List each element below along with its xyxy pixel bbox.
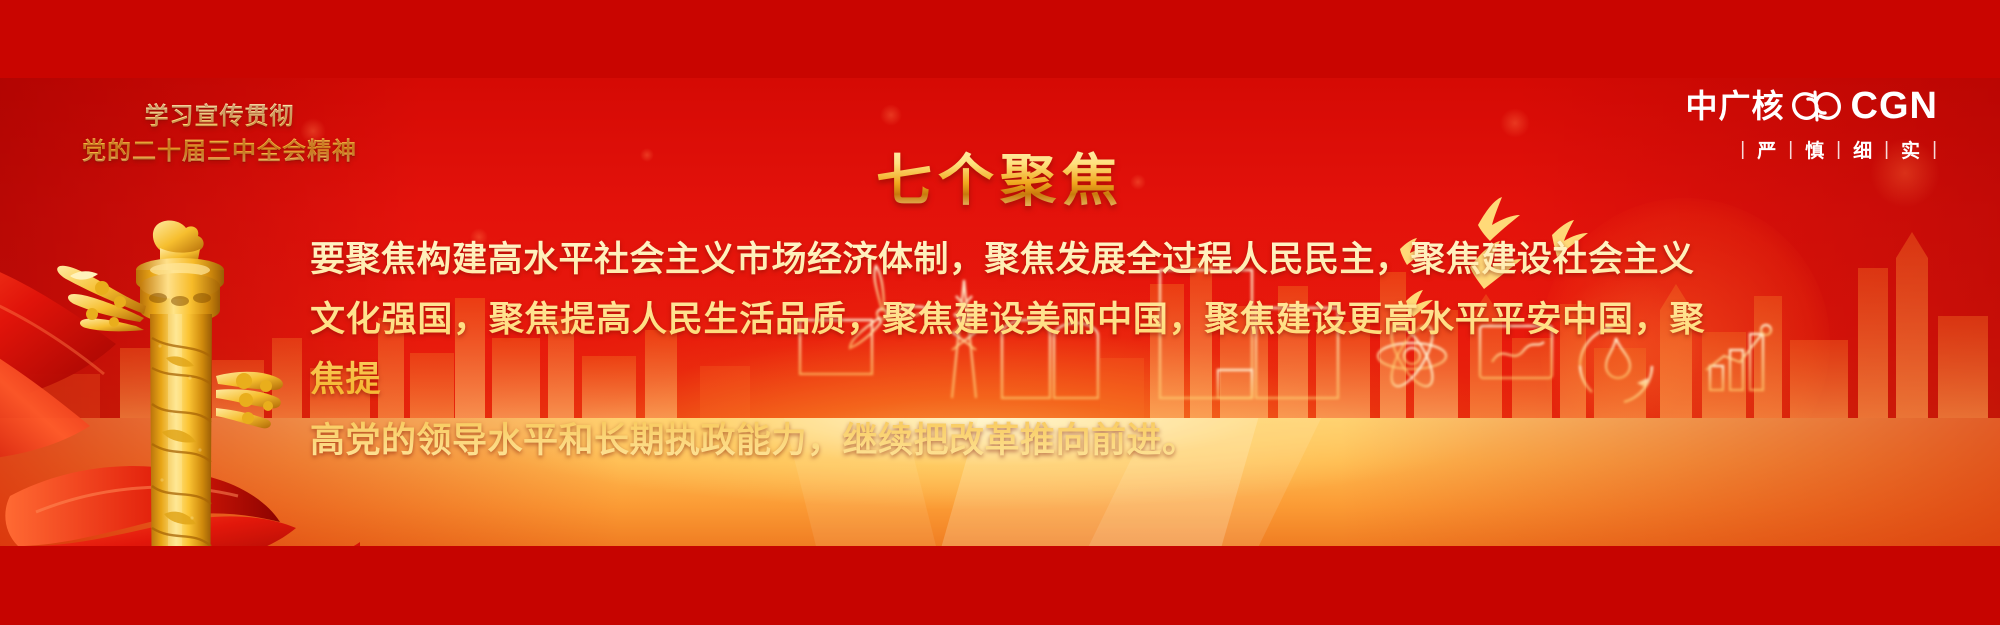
motto-separator: | [1836, 139, 1842, 161]
huabiao-column [40, 218, 300, 546]
motto-char-3: 细 [1842, 136, 1884, 163]
bokeh-dot [880, 104, 902, 126]
top-band [0, 0, 2000, 78]
logo-chinese-name: 中广核 [1686, 90, 1785, 122]
motto-separator: | [1740, 139, 1746, 161]
motto-char-1: 严 [1746, 136, 1788, 163]
bokeh-dot [1500, 108, 1530, 138]
slogan-line-1: 学习宣传贯彻 [82, 100, 357, 135]
body-copy: 要聚焦构建高水平社会主义市场经济体制，聚焦发展全过程人民民主，聚焦建设社会主义 … [310, 230, 1705, 471]
motto-separator: | [1788, 139, 1794, 161]
cgn-logo: 中广核 CGN | 严 | 慎 | 细 | 实 | [1686, 86, 1938, 163]
bottom-band [0, 546, 2000, 625]
motto-char-4: 实 [1890, 136, 1932, 163]
banner-root: 学习宣传贯彻 党的二十届三中全会精神 七个聚焦 要聚焦构建高水平社会主义市场经济… [0, 0, 2000, 625]
motto-separator: | [1884, 139, 1890, 161]
motto-separator: | [1932, 139, 1938, 161]
body-line-1: 要聚焦构建高水平社会主义市场经济体制，聚焦发展全过程人民民主，聚焦建设社会主义 [310, 230, 1705, 290]
logo-wordmark-row: 中广核 CGN [1686, 86, 1938, 126]
logo-motto: | 严 | 慎 | 细 | 实 | [1686, 136, 1938, 163]
body-line-2: 文化强国，聚焦提高人民生活品质，聚焦建设美丽中国，聚焦建设更高水平平安中国，聚焦… [310, 290, 1705, 410]
cgn-swirl-mark [1789, 86, 1847, 126]
motto-char-2: 慎 [1794, 136, 1836, 163]
growth-bar-chart-icon [1700, 325, 1772, 390]
logo-english-name: CGN [1851, 87, 1938, 125]
body-line-3: 高党的领导水平和长期执政能力，继续把改革推向前进。 [310, 411, 1705, 471]
